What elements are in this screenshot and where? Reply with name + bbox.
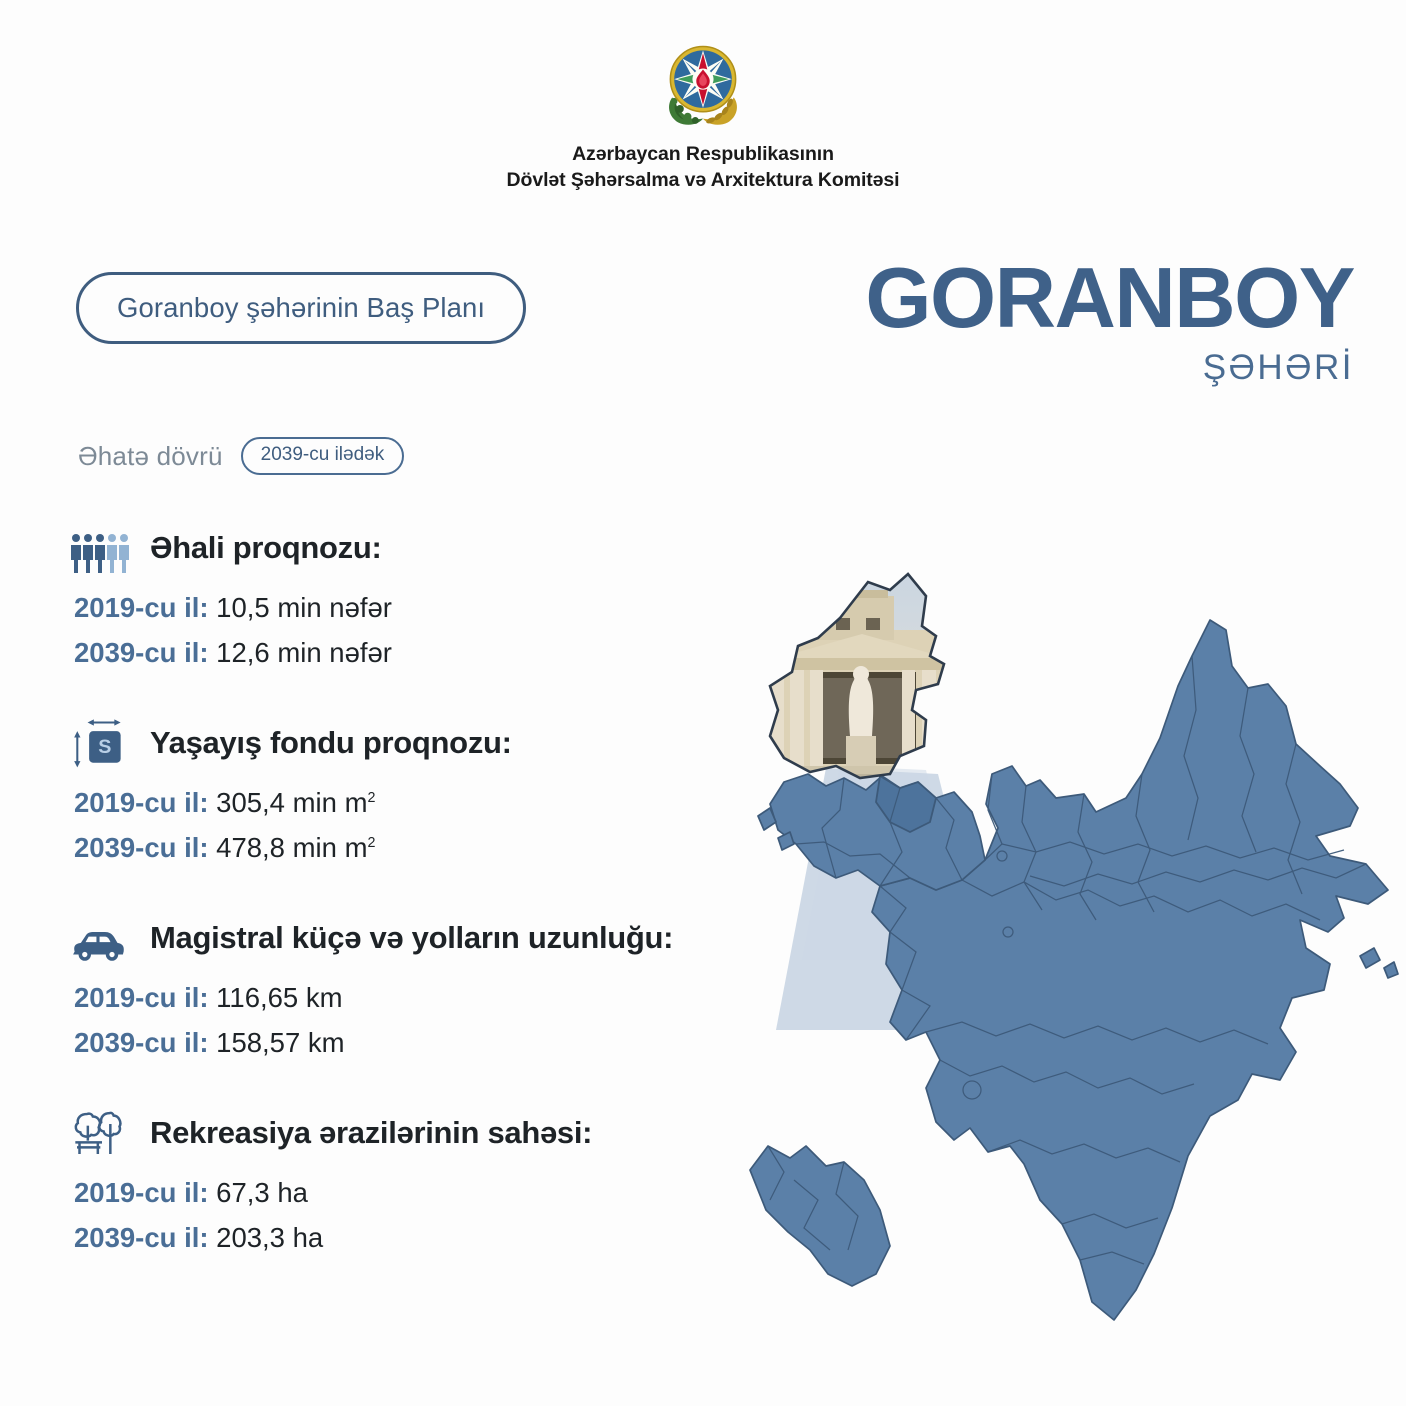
- stat-row: 2019-cu il: 116,65 km: [70, 976, 830, 1021]
- stat-header: Əhali proqnozu:: [70, 520, 830, 576]
- statistics-list: Əhali proqnozu: 2019-cu il: 10,5 min nəf…: [70, 520, 830, 1300]
- stat-block-roads: Magistral küçə və yolların uzunluğu: 201…: [70, 910, 830, 1065]
- stat-year-label: 2019-cu il:: [74, 982, 209, 1013]
- plan-title-text: Goranboy şəhərinin Baş Planı: [117, 292, 485, 324]
- org-line-1: Azərbaycan Respublikasının: [0, 142, 1406, 168]
- stat-value: 158,57 km: [216, 1027, 344, 1058]
- city-title: GORANBOY ŞƏHƏRİ: [865, 258, 1354, 388]
- stat-year-label: 2019-cu il:: [74, 1177, 209, 1208]
- stat-title: Yaşayış fondu proqnozu:: [150, 725, 512, 761]
- people-group-icon: [70, 522, 136, 574]
- stat-row: 2039-cu il: 158,57 km: [70, 1021, 830, 1066]
- organization-name: Azərbaycan Respublikasının Dövlət Şəhərs…: [0, 142, 1406, 193]
- plan-title-pill: Goranboy şəhərinin Baş Planı: [76, 272, 526, 344]
- azerbaijan-coat-of-arms-icon: [655, 34, 751, 130]
- city-name: GORANBOY: [865, 258, 1354, 340]
- stat-value: 10,5 min nəfər: [216, 592, 392, 623]
- car-icon: [70, 912, 136, 964]
- stat-title: Əhali proqnozu:: [150, 530, 382, 566]
- stat-row: 2039-cu il: 12,6 min nəfər: [70, 631, 830, 676]
- stat-header: Rekreasiya ərazilərinin sahəsi:: [70, 1105, 830, 1161]
- stat-block-recreation: Rekreasiya ərazilərinin sahəsi: 2019-cu …: [70, 1105, 830, 1260]
- stat-value: 116,65 km: [216, 982, 342, 1013]
- stat-year-label: 2039-cu il:: [74, 832, 209, 863]
- stat-year-label: 2019-cu il:: [74, 592, 209, 623]
- stat-row: 2019-cu il: 305,4 min m2: [70, 781, 830, 826]
- stat-value: 478,8 min m2: [216, 832, 375, 863]
- stat-row: 2039-cu il: 203,3 ha: [70, 1216, 830, 1261]
- stat-year-label: 2039-cu il:: [74, 1222, 209, 1253]
- stat-row: 2019-cu il: 10,5 min nəfər: [70, 586, 830, 631]
- org-line-2: Dövlət Şəhərsalma və Arxitektura Komitəs…: [0, 168, 1406, 194]
- stat-title: Magistral küçə və yolların uzunluğu:: [150, 920, 673, 956]
- coverage-label: Əhatə dövrü: [78, 441, 223, 472]
- map-illustration: [740, 560, 1400, 1360]
- page-header: Azərbaycan Respublikasının Dövlət Şəhərs…: [0, 34, 1406, 193]
- svg-text:S: S: [98, 736, 111, 758]
- coverage-value-pill: 2039-cu ilədək: [241, 437, 405, 475]
- unit-superscript: 2: [367, 834, 375, 850]
- area-dimension-icon: S: [70, 717, 136, 769]
- stat-value: 67,3 ha: [216, 1177, 308, 1208]
- stat-row: 2019-cu il: 67,3 ha: [70, 1171, 830, 1216]
- stat-value: 203,3 ha: [216, 1222, 323, 1253]
- park-trees-bench-icon: [70, 1107, 136, 1159]
- stat-value: 12,6 min nəfər: [216, 637, 392, 668]
- stat-block-population: Əhali proqnozu: 2019-cu il: 10,5 min nəf…: [70, 520, 830, 675]
- stat-header: S Yaşayış fondu proqnozu:: [70, 715, 830, 771]
- stat-block-housing: S Yaşayış fondu proqnozu: 2019-cu il: 30…: [70, 715, 830, 870]
- stat-title: Rekreasiya ərazilərinin sahəsi:: [150, 1115, 592, 1151]
- unit-superscript: 2: [367, 790, 375, 806]
- stat-year-label: 2039-cu il:: [74, 1027, 209, 1058]
- stat-header: Magistral küçə və yolların uzunluğu:: [70, 910, 830, 966]
- coverage-period: Əhatə dövrü 2039-cu ilədək: [78, 437, 404, 475]
- city-subtitle: ŞƏHƏRİ: [865, 348, 1354, 388]
- stat-year-label: 2039-cu il:: [74, 637, 209, 668]
- stat-year-label: 2019-cu il:: [74, 787, 209, 818]
- azerbaijan-districts-map: [740, 560, 1400, 1360]
- stat-value: 305,4 min m2: [216, 787, 375, 818]
- infographic-page: Azərbaycan Respublikasının Dövlət Şəhərs…: [0, 0, 1406, 1406]
- stat-row: 2039-cu il: 478,8 min m2: [70, 826, 830, 871]
